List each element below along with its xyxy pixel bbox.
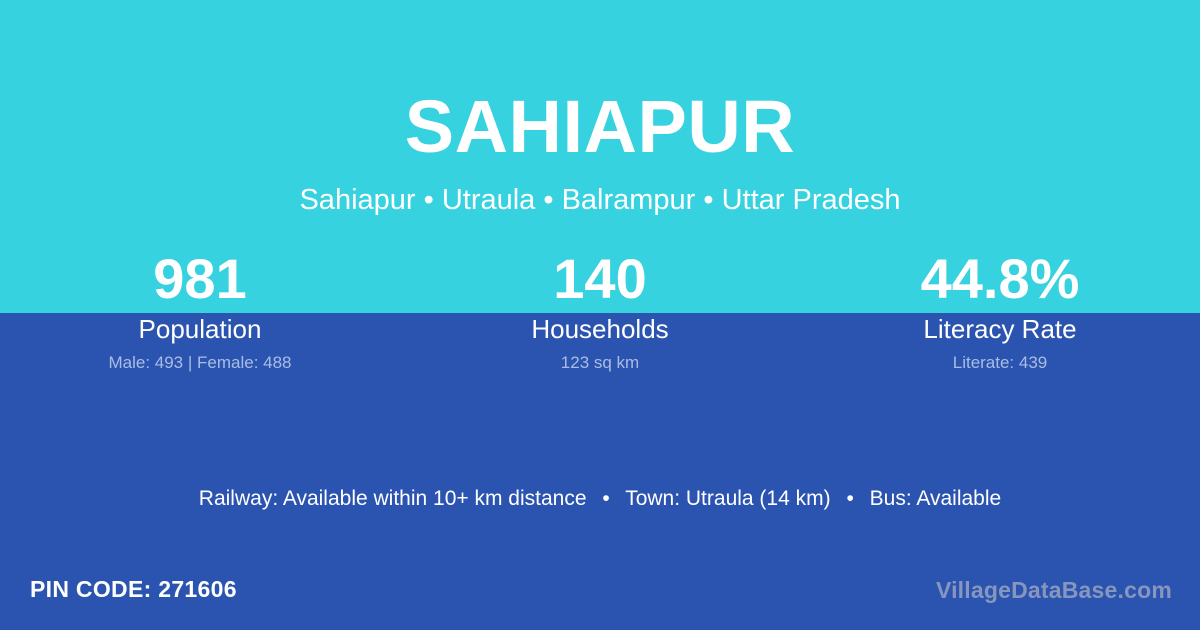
stat-population: 981 Population Male: 493 | Female: 488 xyxy=(0,246,400,386)
breadcrumb: Sahiapur • Utraula • Balrampur • Uttar P… xyxy=(0,182,1200,218)
site-brand: VillageDataBase.com xyxy=(936,575,1172,605)
stat-value-population: 981 xyxy=(0,246,400,312)
stat-label-literacy-rate: Literacy Rate xyxy=(800,312,1200,346)
transport-town: Town: Utraula (14 km) xyxy=(625,487,830,510)
pin-code: PIN CODE: 271606 xyxy=(30,574,237,604)
stat-households: 140 Households 123 sq km xyxy=(400,246,800,386)
stat-value-households: 140 xyxy=(400,246,800,312)
stat-sub-literacy-rate: Literate: 439 xyxy=(800,352,1200,374)
transport-separator-1: • xyxy=(592,484,619,514)
stat-label-population: Population xyxy=(0,312,400,346)
stat-label-households: Households xyxy=(400,312,800,346)
stat-sub-households: 123 sq km xyxy=(400,352,800,374)
footer-bar: PIN CODE: 271606 VillageDataBase.com xyxy=(0,558,1200,630)
stat-literacy-rate: 44.8% Literacy Rate Literate: 439 xyxy=(800,246,1200,386)
transport-bus: Bus: Available xyxy=(870,487,1002,510)
transport-separator-2: • xyxy=(836,484,863,514)
stats-row: 981 Population Male: 493 | Female: 488 1… xyxy=(0,246,1200,386)
village-info-card: SAHIAPUR Sahiapur • Utraula • Balrampur … xyxy=(0,0,1200,630)
transport-info: Railway: Available within 10+ km distanc… xyxy=(0,484,1200,514)
stat-sub-population: Male: 493 | Female: 488 xyxy=(0,352,400,374)
transport-railway: Railway: Available within 10+ km distanc… xyxy=(199,487,587,510)
stat-value-literacy-rate: 44.8% xyxy=(800,246,1200,312)
page-title: SAHIAPUR xyxy=(0,84,1200,170)
